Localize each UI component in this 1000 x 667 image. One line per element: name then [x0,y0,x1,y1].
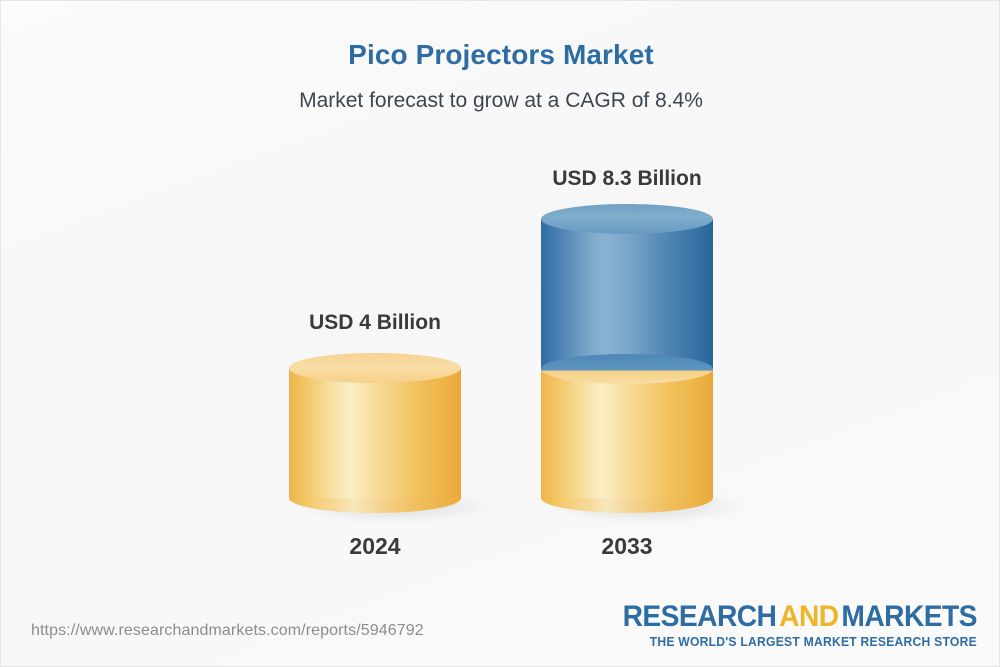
bar-cylinder-2033[interactable] [541,204,713,528]
brand-word-and: AND [779,600,838,633]
bar-group-2033 [541,204,713,528]
value-label-2024: USD 4 Billion [289,311,461,335]
brand-logo[interactable]: RESEARCHANDMARKETS THE WORLD'S LARGEST M… [600,601,977,649]
category-label-2024: 2024 [289,533,461,560]
bar-body-2024 [289,368,461,498]
bar-cylinder-2024[interactable] [289,353,461,528]
bar-top-cap-2033 [541,204,713,234]
category-label-2033: 2033 [541,533,713,560]
bar-body-upper-2033 [541,219,713,369]
bar-body-lower-2033 [541,369,713,498]
brand-word-markets: MARKETS [842,600,977,633]
infographic-canvas: Pico Projectors Market Market forecast t… [0,0,1000,667]
brand-word-research: RESEARCH [623,600,777,633]
brand-tagline: THE WORLD'S LARGEST MARKET RESEARCH STOR… [611,635,977,649]
brand-wordmark: RESEARCHANDMARKETS [623,601,977,633]
value-label-2033: USD 8.3 Billion [531,167,723,191]
bar-group-2024 [289,353,461,528]
chart-plot-area: USD 4 Billion 2024 USD 8.3 Billion 2033 [1,1,1000,601]
bar-segment-seam-2033 [541,354,713,384]
bar-top-cap-2024 [289,353,461,383]
source-url[interactable]: https://www.researchandmarkets.com/repor… [31,622,424,640]
